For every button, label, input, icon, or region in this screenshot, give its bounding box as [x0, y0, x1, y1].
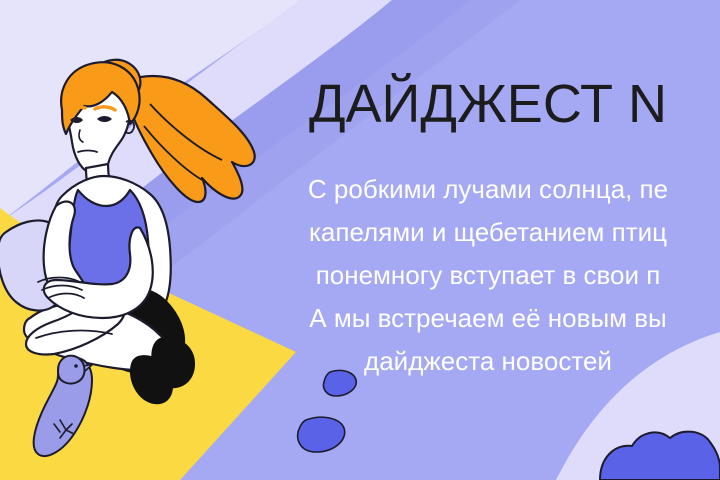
body-line-1: С робкими лучами солнца, пе	[262, 168, 714, 211]
body-line-3: понемногу вступает в свои п	[262, 254, 714, 297]
bird-head	[58, 356, 85, 384]
hair-ponytail	[127, 76, 254, 202]
poster-text-column: ДАЙДЖЕСТ N С робкими лучами солнца, пе к…	[262, 0, 714, 480]
poster-body-text: С робкими лучами солнца, пе капелями и щ…	[262, 168, 714, 383]
body-line-2: капелями и щебетанием птиц	[262, 211, 714, 254]
page-title: ДАЙДЖЕСТ N	[262, 76, 714, 133]
body-line-4: А мы встречаем её новым вы	[262, 297, 714, 340]
digest-poster: ДАЙДЖЕСТ N С робкими лучами солнца, пе к…	[0, 0, 720, 480]
body-line-5: дайджеста новостей	[262, 340, 714, 383]
bird-eye	[74, 364, 78, 368]
